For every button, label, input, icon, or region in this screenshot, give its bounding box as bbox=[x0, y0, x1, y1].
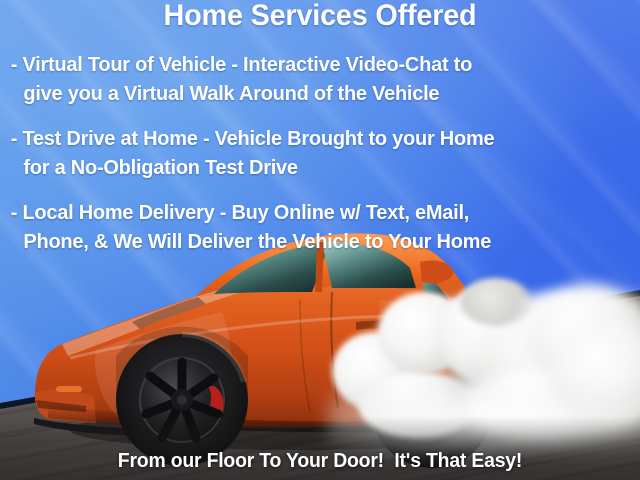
page-title: Home Services Offered bbox=[13, 0, 627, 33]
list-item-line-2: for a No-Obligation Test Drive bbox=[0, 153, 624, 182]
list-item: - Test Drive at Home - Vehicle Brought t… bbox=[0, 124, 624, 182]
services-list: - Virtual Tour of Vehicle - Interactive … bbox=[0, 50, 640, 272]
list-item-line-2: give you a Virtual Walk Around of the Ve… bbox=[0, 79, 624, 108]
list-item-line-1: - Virtual Tour of Vehicle - Interactive … bbox=[0, 50, 624, 79]
list-item: - Virtual Tour of Vehicle - Interactive … bbox=[0, 50, 624, 108]
list-item-line-1: - Local Home Delivery - Buy Online w/ Te… bbox=[0, 198, 624, 227]
list-item-line-2: Phone, & We Will Deliver the Vehicle to … bbox=[0, 227, 624, 256]
smoke-puff-grey bbox=[460, 278, 532, 326]
tagline: From our Floor To Your Door! It's That E… bbox=[10, 449, 631, 473]
list-item: - Local Home Delivery - Buy Online w/ Te… bbox=[0, 198, 624, 256]
list-item-line-1: - Test Drive at Home - Vehicle Brought t… bbox=[0, 124, 624, 153]
promo-banner: Home Services Offered - Virtual Tour of … bbox=[0, 0, 640, 480]
